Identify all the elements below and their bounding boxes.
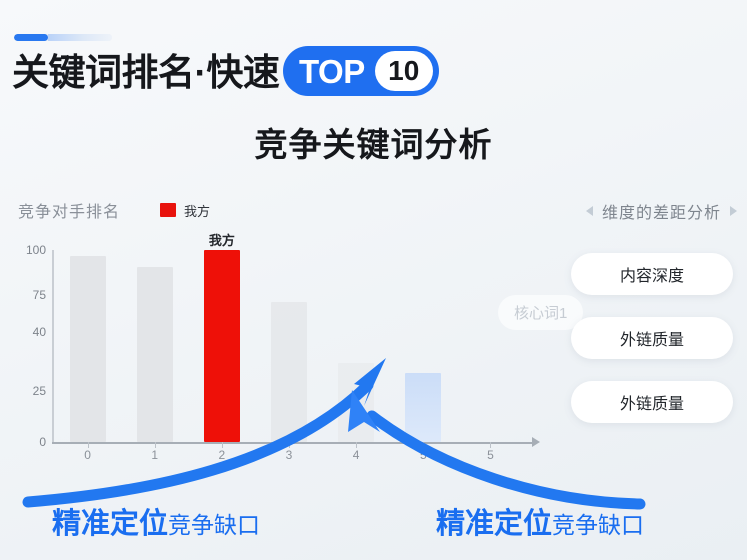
dimension-pill-list: 内容深度外链质量外链质量 <box>571 253 733 423</box>
triangle-right-icon <box>730 206 737 216</box>
caption-left-light: 竞争缺口 <box>168 506 260 540</box>
x-axis-tick: 1 <box>151 448 158 462</box>
caption-right-strong: 精准定位 <box>436 500 552 542</box>
badge-number: 10 <box>388 57 419 85</box>
dimension-gap-header: 维度的差距分析 <box>586 199 737 223</box>
x-axis-tick: 0 <box>84 448 91 462</box>
legend-label: 我方 <box>184 201 210 220</box>
x-axis-ticks: 0123455 <box>54 448 524 468</box>
y-axis-tick: 25 <box>14 384 46 398</box>
caption-right-light: 竞争缺口 <box>552 506 644 540</box>
y-axis-tick: 40 <box>14 325 46 339</box>
highlight-bar-label: 我方 <box>209 230 235 249</box>
x-axis-arrow-icon <box>532 437 540 447</box>
x-axis-tick: 4 <box>353 448 360 462</box>
x-axis-line <box>52 442 534 444</box>
page-subtitle: 竞争关键词分析 <box>0 118 747 166</box>
dimension-pill-card[interactable]: 外链质量 <box>571 317 733 359</box>
dimension-pill-card[interactable]: 内容深度 <box>571 253 733 295</box>
caption-right: 精准定位 竞争缺口 <box>436 500 644 542</box>
x-axis-tick: 5 <box>420 448 427 462</box>
legend-swatch-icon <box>160 203 176 217</box>
accent-bar-fade <box>48 34 112 41</box>
chart-bar <box>405 373 441 442</box>
accent-bar-fill <box>14 34 48 41</box>
dimension-pill-label: 外链质量 <box>620 326 684 350</box>
page-title: 关键词排名·快速 <box>12 54 279 91</box>
chart-bar <box>137 267 173 442</box>
dimension-pill-label: 外链质量 <box>620 390 684 414</box>
triangle-left-icon <box>586 206 593 216</box>
dimension-pill-card[interactable]: 外链质量 <box>571 381 733 423</box>
caption-left-strong: 精准定位 <box>52 500 168 542</box>
x-axis-tick: 3 <box>286 448 293 462</box>
caption-left: 精准定位 竞争缺口 <box>52 500 260 542</box>
x-axis-tick: 2 <box>219 448 226 462</box>
competitor-rank-chart: 1007540250 我方 0123455 <box>14 250 534 450</box>
badge-top-label: TOP <box>299 55 365 88</box>
chart-legend-row: 竞争对手排名 我方 <box>18 198 210 222</box>
dimension-gap-label: 维度的差距分析 <box>602 199 721 223</box>
badge-number-capsule: 10 <box>375 51 433 91</box>
chart-bar <box>271 302 307 442</box>
y-axis-tick: 0 <box>14 435 46 449</box>
x-axis-tick: 5 <box>487 448 494 462</box>
dimension-pill-label: 内容深度 <box>620 262 684 286</box>
chart-bars: 我方 <box>54 250 524 442</box>
chart-axis-title: 竞争对手排名 <box>18 198 120 222</box>
page-title-row: 关键词排名·快速 <box>12 48 279 96</box>
progress-accent-bar <box>14 34 112 41</box>
chart-bar <box>70 256 106 442</box>
y-axis-ticks: 1007540250 <box>14 250 46 442</box>
chart-bar-highlight <box>204 250 240 442</box>
chart-bar <box>338 363 374 442</box>
chart-legend: 我方 <box>160 201 210 220</box>
top-rank-badge: TOP 10 <box>283 46 439 96</box>
y-axis-tick: 100 <box>14 243 46 257</box>
y-axis-tick: 75 <box>14 288 46 302</box>
